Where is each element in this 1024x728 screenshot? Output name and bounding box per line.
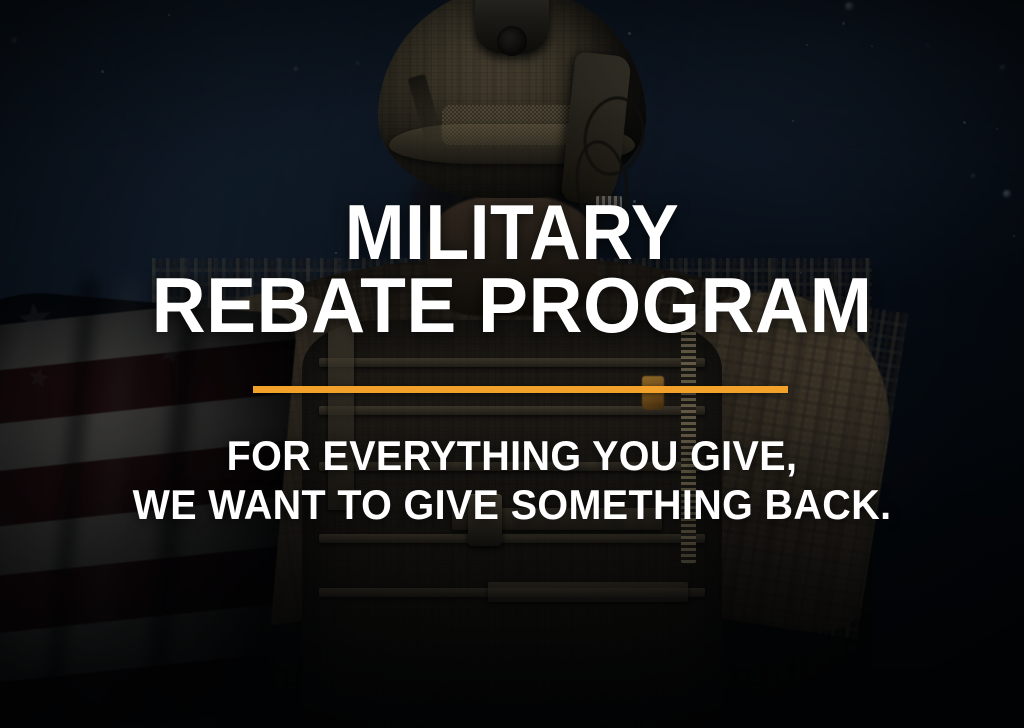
bokeh-light xyxy=(1000,65,1005,70)
bokeh-light xyxy=(971,174,975,178)
flag-shading xyxy=(0,287,298,728)
molle-webbing-row xyxy=(319,358,705,367)
military-rebate-banner: MILITARY REBATE PROGRAM FOR EVERYTHING Y… xyxy=(0,0,1024,728)
night-vision-knob xyxy=(497,26,527,56)
star-dot xyxy=(963,121,966,124)
molle-webbing-row xyxy=(319,462,705,471)
star-dot xyxy=(996,128,998,130)
gear-pull-tab xyxy=(642,376,664,410)
plate-carrier-vest xyxy=(302,320,722,728)
vest-belt xyxy=(488,582,688,602)
bokeh-light xyxy=(926,44,929,47)
background-photo xyxy=(0,0,1024,728)
bokeh-light xyxy=(1003,190,1011,198)
star-dot xyxy=(1013,235,1015,237)
bokeh-light xyxy=(12,38,17,43)
star-dot xyxy=(101,70,104,73)
soldier-neck xyxy=(427,196,597,316)
vest-strap xyxy=(328,320,354,510)
american-flag xyxy=(0,287,298,728)
helmet-id-patch xyxy=(596,196,622,212)
molle-webbing-row xyxy=(319,534,705,543)
vest-zipper xyxy=(681,320,696,564)
vest-buckle xyxy=(468,494,502,546)
